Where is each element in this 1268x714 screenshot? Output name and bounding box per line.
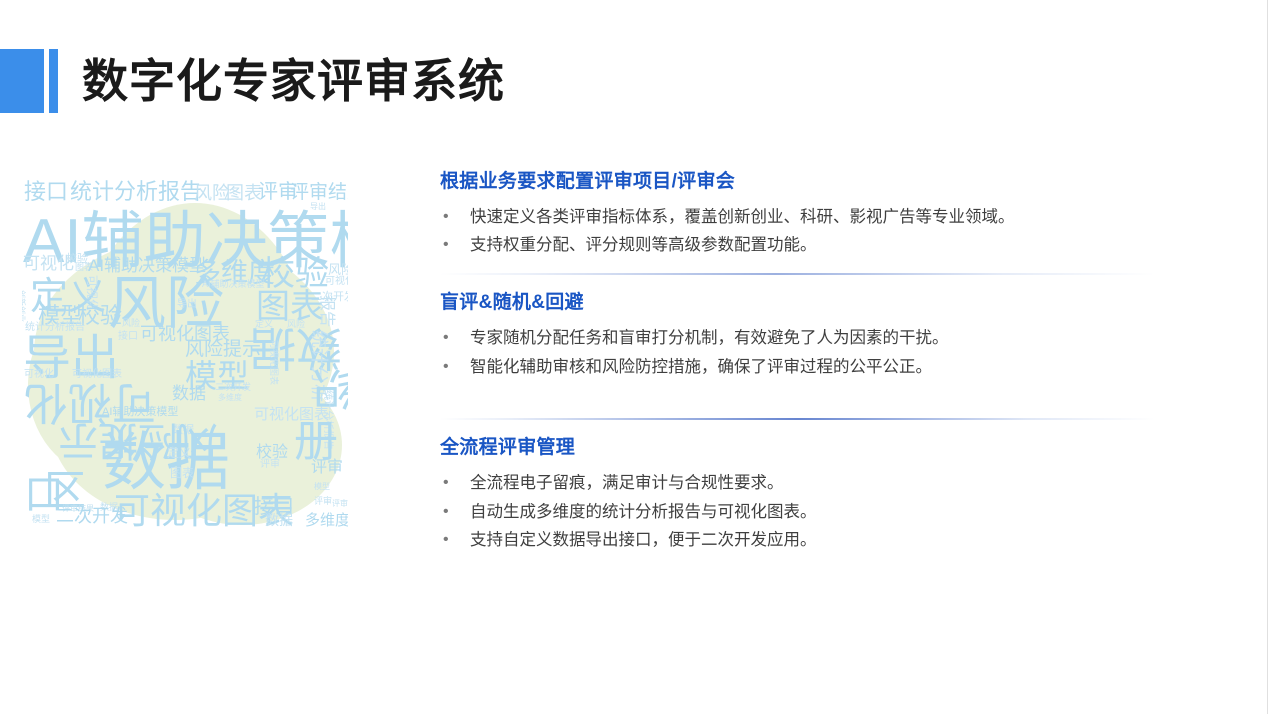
wordcloud-word: 模型 — [314, 483, 330, 491]
wordcloud-word: 创新创业 — [22, 290, 25, 322]
list-item: • 自动生成多维度的统计分析报告与可视化图表。 — [440, 499, 1140, 526]
wordcloud-word: 数据 — [172, 385, 206, 402]
wordcloud-word: 评审 — [311, 460, 343, 476]
section-bullet-list: • 专家随机分配任务和盲审打分机制，有效避免了人为因素的干扰。 • 智能化辅助审… — [440, 325, 1140, 380]
title-accent-bar — [49, 49, 58, 113]
wordcloud-word: 多维度 — [218, 394, 242, 402]
section-divider — [440, 273, 1155, 275]
wordcloud-word: 评审 — [314, 497, 332, 506]
wordcloud-word: 统计分析报告 — [70, 181, 202, 203]
wordcloud-word: 数据 — [102, 430, 230, 494]
bullet-dot-icon: • — [443, 527, 449, 553]
wordcloud-word: 模型 — [32, 515, 50, 524]
section-heading: 根据业务要求配置评审项目/评审会 — [440, 170, 1140, 195]
wordcloud-word: 接口 — [24, 181, 68, 203]
bullet-dot-icon: • — [443, 232, 449, 258]
bullet-text: 快速定义各类评审指标体系，覆盖创新创业、科研、影视广告等专业领域。 — [470, 208, 1015, 226]
wordcloud-image: 接口统计分析报告风险图表评审评审结果导出AI辅助决策模型可视化校验图表AI辅助决… — [22, 175, 348, 528]
section-spacer — [440, 382, 1140, 404]
section-bullet-list: • 快速定义各类评审指标体系，覆盖创新创业、科研、影视广告等专业领域。 • 支持… — [440, 204, 1140, 259]
wordcloud-word: 评审 — [260, 460, 280, 470]
section-bullet-list: • 全流程电子留痕，满足审计与合规性要求。 • 自动生成多维度的统计分析报告与可… — [440, 470, 1140, 554]
list-item: • 全流程电子留痕，满足审计与合规性要求。 — [440, 470, 1140, 497]
bullet-dot-icon: • — [443, 470, 449, 496]
page-title: 数字化专家评审系统 — [82, 44, 505, 118]
wordcloud-word: 二次开发 — [215, 383, 251, 392]
bullet-text: 支持自定义数据导出接口，便于二次开发应用。 — [470, 531, 817, 549]
wordcloud-word: 评审结果 — [290, 183, 348, 202]
wordcloud-word: 图表 — [170, 467, 194, 479]
list-item: • 快速定义各类评审指标体系，覆盖创新创业、科研、影视广告等专业领域。 — [440, 204, 1140, 231]
section-heading: 盲评&随机&回避 — [440, 291, 1140, 316]
wordcloud-word: 可视化图表 — [269, 340, 278, 385]
wordcloud-word: AI辅助决策模型 — [102, 407, 178, 418]
bullet-text: 智能化辅助审核和风险防控措施，确保了评审过程的公平公正。 — [470, 358, 932, 376]
wordcloud-word: 可视化 — [325, 277, 348, 287]
wordcloud-word: 数据 — [265, 513, 293, 527]
section-divider — [440, 418, 1155, 420]
section-3: 全流程评审管理 • 全流程电子留痕，满足审计与合规性要求。 • 自动生成多维度的… — [440, 436, 1140, 554]
wordcloud-word: 多维度 — [305, 513, 348, 528]
list-item: • 专家随机分配任务和盲审打分机制，有效避免了人为因素的干扰。 — [440, 325, 1140, 352]
wordcloud-word: 接口 — [118, 332, 138, 342]
wordcloud-word: 定义 — [167, 447, 191, 459]
slide-title-bar: 数字化专家评审系统 — [0, 44, 1268, 118]
wordcloud-word: 评审 — [332, 500, 348, 508]
bullet-dot-icon: • — [443, 204, 449, 230]
wordcloud-word: 风险 — [328, 263, 348, 276]
bullet-text: 全流程电子留痕，满足审计与合规性要求。 — [470, 474, 784, 492]
section-1: 根据业务要求配置评审项目/评审会 • 快速定义各类评审指标体系，覆盖创新创业、科… — [440, 170, 1140, 259]
bullet-dot-icon: • — [443, 325, 449, 351]
bullet-text: 支持权重分配、评分规则等高级参数配置功能。 — [470, 236, 817, 254]
wordcloud-word: 导出 — [177, 300, 197, 310]
wordcloud-word: 风险 — [194, 184, 230, 202]
wordcloud-word: 校验 — [261, 257, 329, 291]
list-item: • 智能化辅助审核和风险防控措施，确保了评审过程的公平公正。 — [440, 354, 1140, 381]
wordcloud-word: 风险 — [122, 319, 140, 328]
bullet-text: 专家随机分配任务和盲审打分机制，有效避免了人为因素的干扰。 — [470, 329, 949, 347]
wordcloud-word: 图表 — [226, 184, 262, 202]
bullet-text: 自动生成多维度的统计分析报告与可视化图表。 — [470, 503, 817, 521]
list-item: • 支持自定义数据导出接口，便于二次开发应用。 — [440, 527, 1140, 554]
section-2: 盲评&随机&回避 • 专家随机分配任务和盲审打分机制，有效避免了人为因素的干扰。… — [440, 291, 1140, 380]
slide-canvas: 数字化专家评审系统 接口统计分析报告风险图表评审评审结果导出AI辅助决策模型可视… — [0, 0, 1268, 714]
bullet-dot-icon: • — [443, 354, 449, 380]
wordcloud-word: 册 — [294, 420, 338, 464]
bullet-dot-icon: • — [443, 499, 449, 525]
title-accent-block — [0, 49, 44, 113]
content-column: 根据业务要求配置评审项目/评审会 • 快速定义各类评审指标体系，覆盖创新创业、科… — [440, 170, 1140, 556]
list-item: • 支持权重分配、评分规则等高级参数配置功能。 — [440, 232, 1140, 259]
section-heading: 全流程评审管理 — [440, 436, 1140, 461]
